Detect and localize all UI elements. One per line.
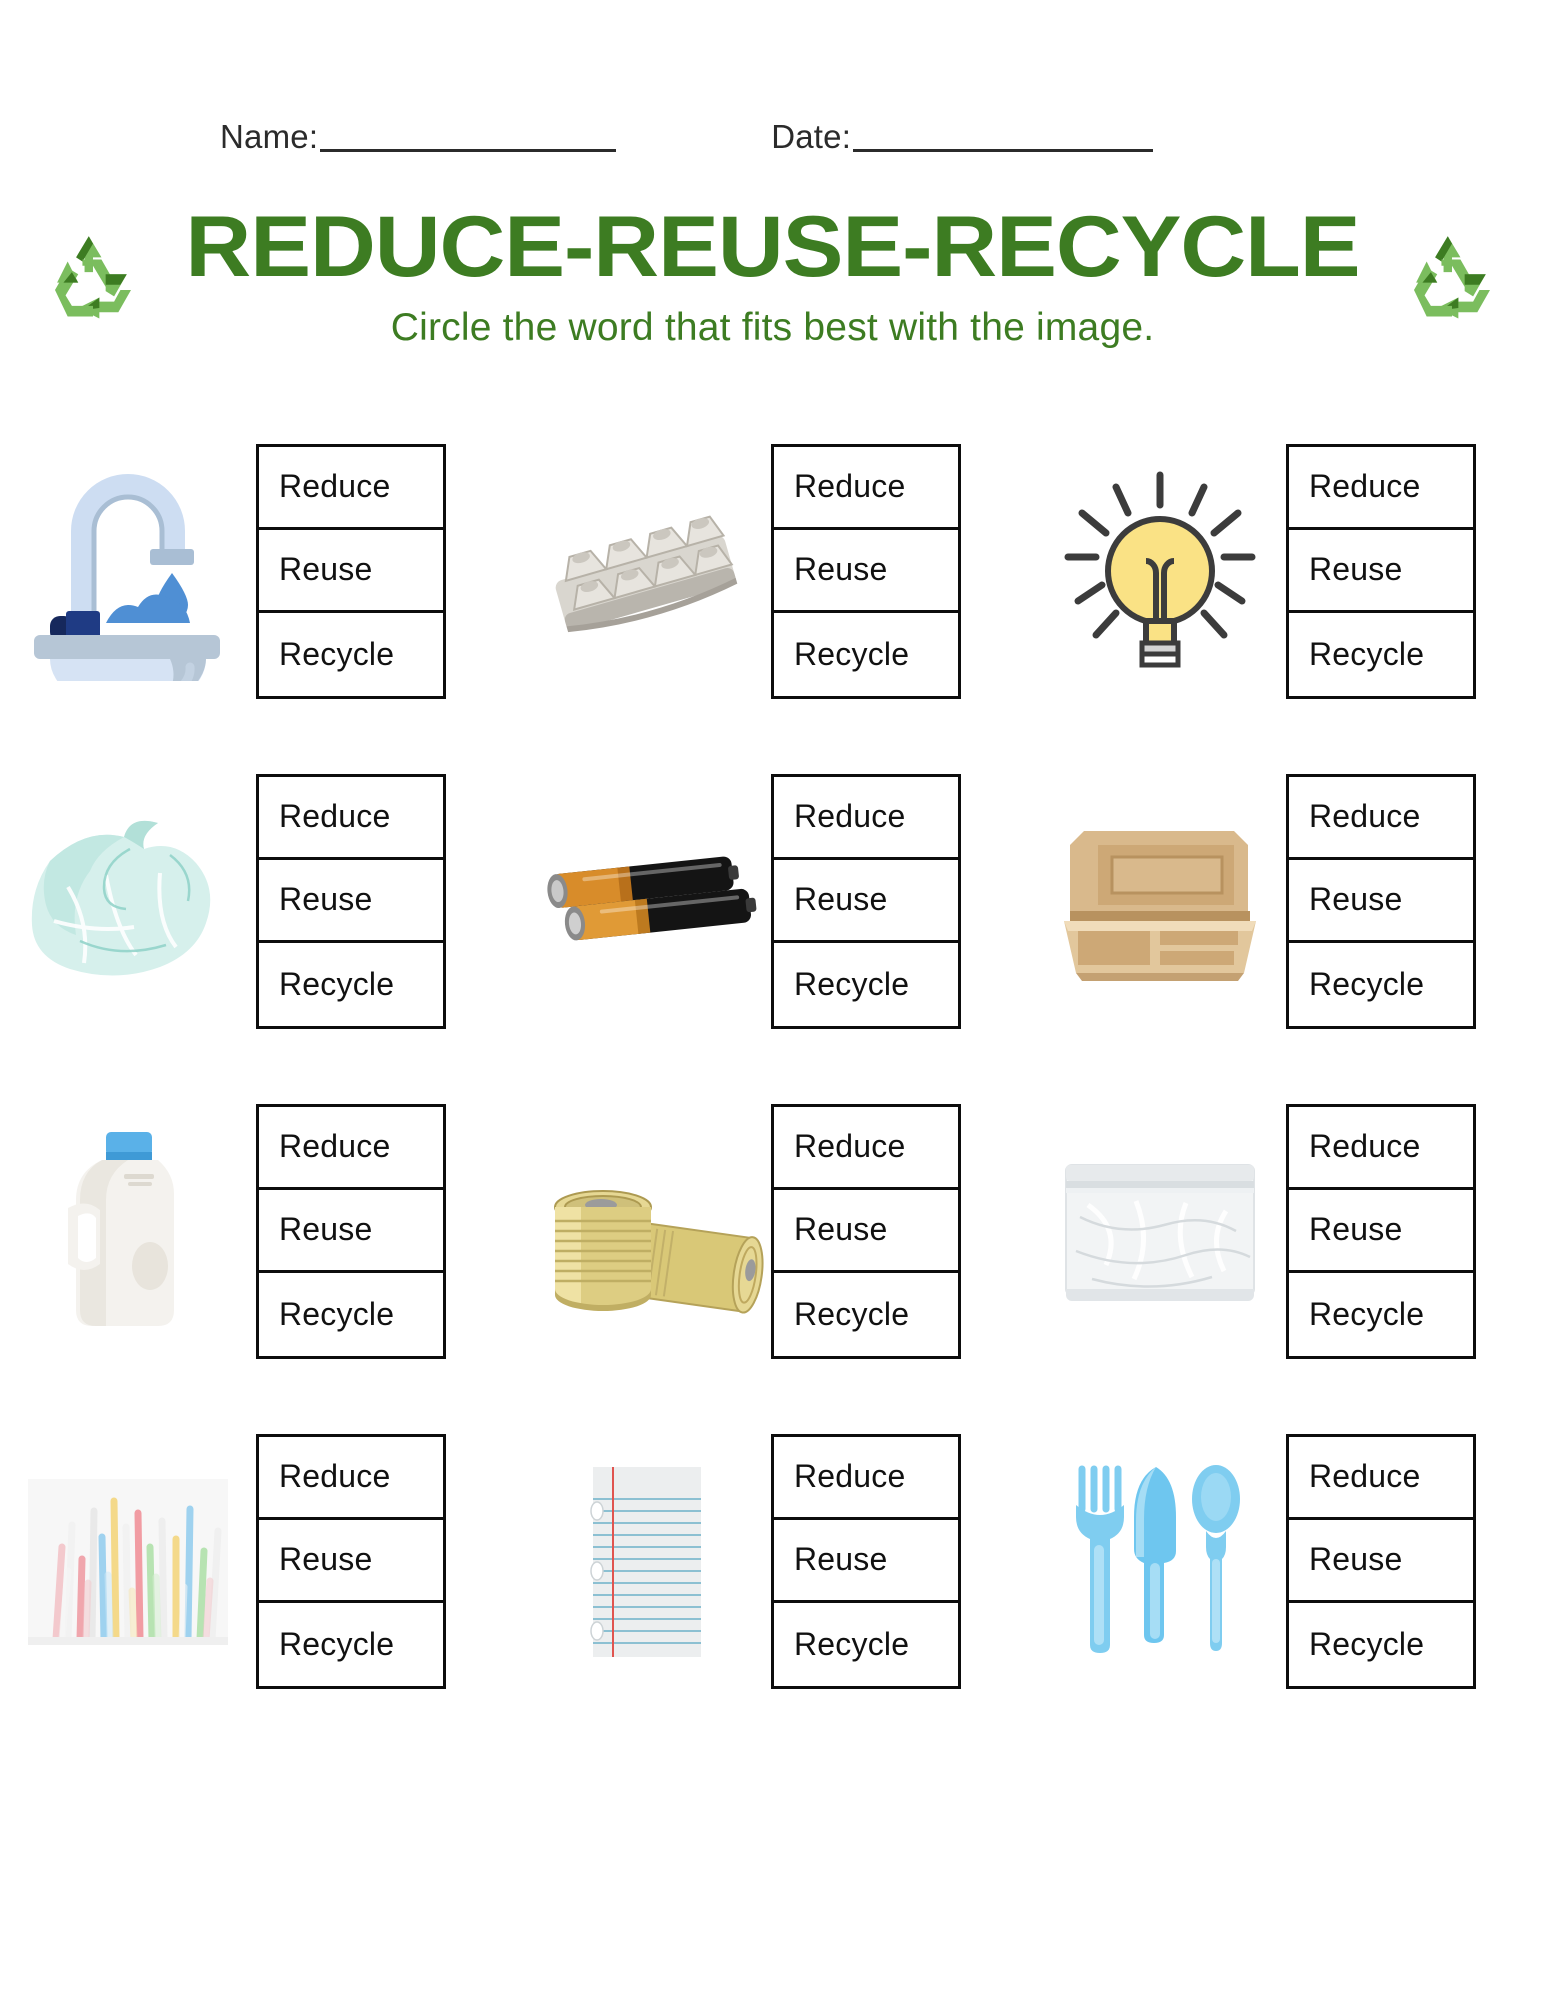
- option-reuse[interactable]: Reuse: [1289, 860, 1473, 943]
- option-recycle[interactable]: Recycle: [774, 943, 958, 1026]
- page-title: REDUCE-REUSE-RECYCLE: [0, 204, 1545, 290]
- option-reuse[interactable]: Reuse: [774, 1520, 958, 1603]
- option-recycle[interactable]: Recycle: [1289, 613, 1473, 696]
- answer-options: Reduce Reuse Recycle: [1286, 1434, 1476, 1689]
- option-reuse[interactable]: Reuse: [1289, 1520, 1473, 1603]
- worksheet-item: Reduce Reuse Recycle: [0, 406, 515, 736]
- worksheet-item: Reduce Reuse Recycle: [0, 1396, 515, 1726]
- takeout-container-icon: [1040, 776, 1280, 1026]
- option-reduce[interactable]: Reduce: [259, 1437, 443, 1520]
- worksheet-item: Reduce Reuse Recycle: [1030, 736, 1545, 1066]
- option-reduce[interactable]: Reduce: [1289, 1437, 1473, 1520]
- answer-options: Reduce Reuse Recycle: [771, 1434, 961, 1689]
- option-reduce[interactable]: Reduce: [774, 1107, 958, 1190]
- option-reduce[interactable]: Reduce: [1289, 447, 1473, 530]
- worksheet-item: Reduce Reuse Recycle: [1030, 1066, 1545, 1396]
- answer-options: Reduce Reuse Recycle: [256, 444, 446, 699]
- option-recycle[interactable]: Recycle: [1289, 943, 1473, 1026]
- light-bulb-icon: [1040, 446, 1280, 696]
- page-subtitle: Circle the word that fits best with the …: [0, 306, 1545, 350]
- name-date-row: Name: Date:: [0, 0, 1545, 156]
- answer-options: Reduce Reuse Recycle: [1286, 1104, 1476, 1359]
- option-reuse[interactable]: Reuse: [1289, 1190, 1473, 1273]
- worksheet-grid: Reduce Reuse Recycle: [0, 406, 1545, 1726]
- plastic-cutlery-icon: [1040, 1436, 1280, 1686]
- option-reduce[interactable]: Reduce: [259, 777, 443, 860]
- answer-options: Reduce Reuse Recycle: [256, 1434, 446, 1689]
- option-reuse[interactable]: Reuse: [259, 1190, 443, 1273]
- option-recycle[interactable]: Recycle: [1289, 1603, 1473, 1686]
- date-input-rule[interactable]: [853, 149, 1153, 152]
- worksheet-item: Reduce Reuse Recycle: [515, 406, 1030, 736]
- option-reduce[interactable]: Reduce: [774, 447, 958, 530]
- option-recycle[interactable]: Recycle: [259, 1603, 443, 1686]
- milk-jug-icon: [10, 1106, 250, 1356]
- tin-cans-icon: [525, 1106, 765, 1356]
- answer-options: Reduce Reuse Recycle: [771, 774, 961, 1029]
- option-recycle[interactable]: Recycle: [259, 1273, 443, 1356]
- answer-options: Reduce Reuse Recycle: [771, 1104, 961, 1359]
- option-reduce[interactable]: Reduce: [1289, 777, 1473, 860]
- option-recycle[interactable]: Recycle: [259, 943, 443, 1026]
- option-reuse[interactable]: Reuse: [1289, 530, 1473, 613]
- worksheet-item: Reduce Reuse Recycle: [515, 1396, 1030, 1726]
- plastic-bag-icon: [10, 776, 250, 1026]
- option-reuse[interactable]: Reuse: [774, 860, 958, 943]
- answer-options: Reduce Reuse Recycle: [1286, 444, 1476, 699]
- option-reduce[interactable]: Reduce: [1289, 1107, 1473, 1190]
- option-reduce[interactable]: Reduce: [259, 1107, 443, 1190]
- name-input-rule[interactable]: [320, 149, 616, 152]
- date-label: Date:: [771, 118, 851, 156]
- option-reuse[interactable]: Reuse: [259, 1520, 443, 1603]
- option-reuse[interactable]: Reuse: [259, 860, 443, 943]
- zip-bag-icon: [1040, 1106, 1280, 1356]
- drinking-straws-icon: [10, 1436, 250, 1686]
- option-reuse[interactable]: Reuse: [259, 530, 443, 613]
- answer-options: Reduce Reuse Recycle: [256, 774, 446, 1029]
- option-reduce[interactable]: Reduce: [774, 1437, 958, 1520]
- name-field-group: Name:: [220, 118, 616, 156]
- worksheet-item: Reduce Reuse Recycle: [1030, 1396, 1545, 1726]
- recycle-icon: [1397, 232, 1507, 327]
- lined-paper-icon: [525, 1436, 765, 1686]
- option-reuse[interactable]: Reuse: [774, 1190, 958, 1273]
- option-recycle[interactable]: Recycle: [774, 1603, 958, 1686]
- option-reduce[interactable]: Reduce: [259, 447, 443, 530]
- option-recycle[interactable]: Recycle: [1289, 1273, 1473, 1356]
- worksheet-item: Reduce Reuse Recycle: [0, 1066, 515, 1396]
- date-field-group: Date:: [771, 118, 1153, 156]
- answer-options: Reduce Reuse Recycle: [256, 1104, 446, 1359]
- worksheet-item: Reduce Reuse Recycle: [515, 736, 1030, 1066]
- worksheet-item: Reduce Reuse Recycle: [0, 736, 515, 1066]
- option-reuse[interactable]: Reuse: [774, 530, 958, 613]
- option-recycle[interactable]: Recycle: [774, 1273, 958, 1356]
- worksheet-item: Reduce Reuse Recycle: [1030, 406, 1545, 736]
- option-recycle[interactable]: Recycle: [774, 613, 958, 696]
- batteries-icon: [525, 776, 765, 1026]
- option-reduce[interactable]: Reduce: [774, 777, 958, 860]
- option-recycle[interactable]: Recycle: [259, 613, 443, 696]
- answer-options: Reduce Reuse Recycle: [771, 444, 961, 699]
- title-block: REDUCE-REUSE-RECYCLE Circle the word tha…: [0, 204, 1545, 350]
- name-label: Name:: [220, 118, 318, 156]
- answer-options: Reduce Reuse Recycle: [1286, 774, 1476, 1029]
- egg-carton-icon: [525, 446, 765, 696]
- sink-faucet-icon: [10, 446, 250, 696]
- worksheet-item: Reduce Reuse Recycle: [515, 1066, 1030, 1396]
